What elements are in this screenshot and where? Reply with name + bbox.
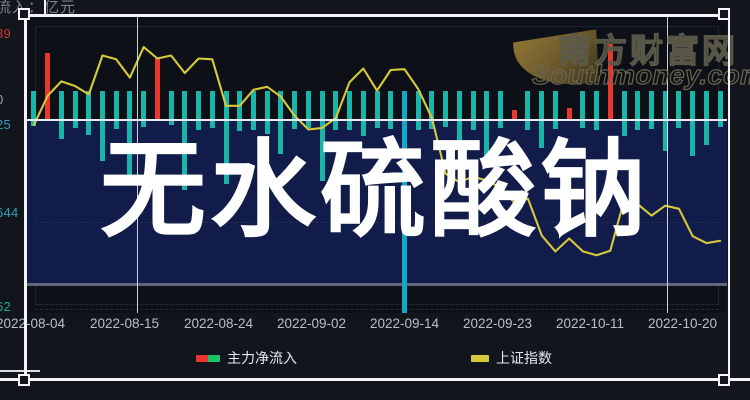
frame-edge-bottom-left <box>0 370 40 372</box>
y-axis-label-1: 0 <box>0 92 4 107</box>
frame-edge-bottom <box>0 378 750 381</box>
legend-label-sse-index: 上证指数 <box>496 348 552 368</box>
legend-item-sse-index[interactable]: 上证指数 <box>471 348 552 368</box>
y-axis-label-2: 25 <box>0 117 11 132</box>
legend-item-net-inflow[interactable]: 主力净流入 <box>196 348 297 368</box>
x-axis-label-1: 2022-08-15 <box>90 316 159 331</box>
legend-swatch-net-inflow-icon <box>196 355 220 362</box>
x-axis-label-0: 2022-08-04 <box>0 316 65 331</box>
screenshot-stage: 流入：亿元 3902564462 2022-08-042022-08-15202… <box>0 0 750 400</box>
x-axis-label-6: 2022-10-11 <box>556 316 624 331</box>
selection-handle-top-left[interactable] <box>18 8 30 20</box>
selection-handle-bottom-left[interactable] <box>18 374 30 386</box>
zero-axis-line <box>27 119 727 121</box>
overlay-title: 无水硫酸钠 <box>0 138 750 244</box>
chart-legend: 主力净流入 上证指数 <box>0 348 750 372</box>
y-axis-label-0: 39 <box>0 26 11 41</box>
frame-edge-left <box>24 14 27 380</box>
legend-label-net-inflow: 主力净流入 <box>227 348 297 368</box>
x-axis-labels: 2022-08-042022-08-152022-08-242022-09-02… <box>0 316 750 338</box>
y-axis-label-4: 62 <box>0 299 11 314</box>
selection-handle-bottom-right[interactable] <box>718 374 730 386</box>
x-axis-label-7: 2022-10-20 <box>648 316 717 331</box>
x-axis-label-5: 2022-09-23 <box>463 316 532 331</box>
x-axis-label-4: 2022-09-14 <box>370 316 439 331</box>
x-axis-label-2: 2022-08-24 <box>184 316 253 331</box>
selection-handle-top-right[interactable] <box>718 8 730 20</box>
frame-edge-top <box>30 14 730 17</box>
legend-swatch-sse-index-icon <box>471 355 489 362</box>
frame-edge-left-upper <box>44 0 46 16</box>
x-axis-label-3: 2022-09-02 <box>277 316 346 331</box>
